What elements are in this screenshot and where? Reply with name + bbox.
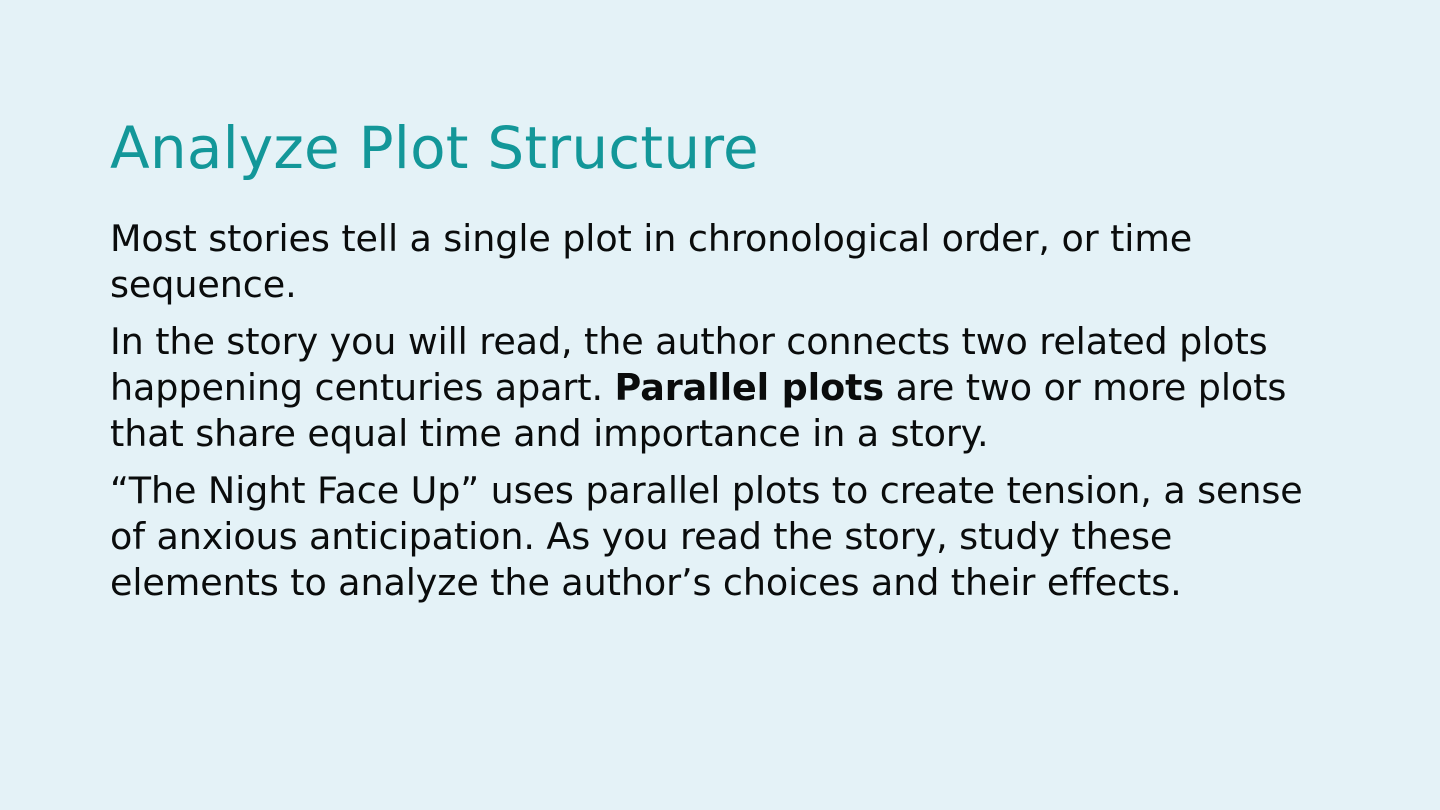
body-paragraph-1: Most stories tell a single plot in chron… bbox=[110, 216, 1338, 308]
body-paragraph-3: “The Night Face Up” uses parallel plots … bbox=[110, 468, 1338, 606]
body-paragraph-2: In the story you will read, the author c… bbox=[110, 319, 1338, 457]
slide-body: Most stories tell a single plot in chron… bbox=[110, 216, 1338, 606]
slide-canvas: Analyze Plot Structure Most stories tell… bbox=[0, 0, 1440, 810]
page-title: Analyze Plot Structure bbox=[110, 113, 1340, 183]
key-term-parallel-plots: Parallel plots bbox=[615, 366, 885, 409]
